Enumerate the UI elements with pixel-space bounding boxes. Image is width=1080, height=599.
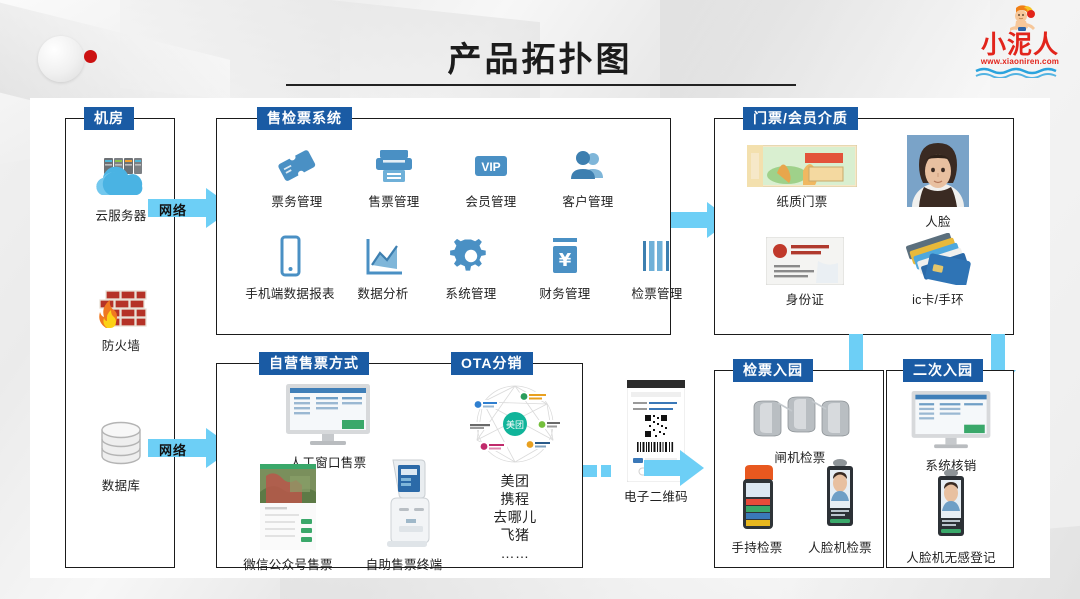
ota-brand-list: 美团 携程 去哪儿 飞猪 …… [455,472,575,562]
page-title: 产品拓扑图 [0,32,1080,81]
cell-label: 客户管理 [536,191,640,210]
cell-label: 会员管理 [439,191,543,210]
cell-label: 数据分析 [335,283,431,302]
cell-data-analysis: 数据分析 [335,233,431,302]
cell-customer-management: 客户管理 [536,145,640,210]
wechat-phone-image [260,464,316,550]
cell-finance-management: ¥ 财务管理 [515,233,615,302]
database-icon [90,419,152,471]
ticket-icon [274,145,320,187]
svg-text:美团: 美团 [506,419,524,431]
box-tag-ticket-media: 门票/会员介质 [743,107,858,130]
turnstile-image [740,389,860,443]
cell-face-noawareness: 人脸机无感登记 [887,467,1015,566]
cell-label: 电子二维码 [600,486,712,505]
cell-system-management: 系统管理 [421,233,521,302]
box-self-sales: 自营售票方式 OTA分销 人工窗口售票 [216,363,583,568]
desktop-monitor-image [906,389,996,451]
handheld-scanner-image [737,463,777,533]
ota-brand: …… [455,544,575,562]
network-label-2: 网络 [159,440,187,459]
barcode-icon [634,233,680,279]
cell-sales-management: 售票管理 [342,145,446,210]
finance-icon: ¥ [542,233,588,279]
vip-icon: VIP [468,145,514,187]
box-server-room: 机房 云服务 [65,118,175,568]
cell-handheld: 手持检票 [713,463,801,556]
title-underline [286,84,796,86]
cell-label: 检票管理 [607,283,707,302]
cell-kiosk: 自助售票终端 [345,456,463,573]
face-terminal-image [932,467,970,543]
ota-brand: 美团 [455,472,575,490]
cell-label: 售票管理 [342,191,446,210]
cell-member-management: VIP 会员管理 [439,145,543,210]
cell-id-card: 身份证 [745,237,865,308]
chart-icon [360,233,406,279]
cell-label: 手持检票 [713,537,801,556]
cell-label: 自助售票终端 [345,554,463,573]
cell-label: 人脸机检票 [795,537,885,556]
box-tag-server-room: 机房 [84,107,134,130]
cell-label: 财务管理 [515,283,615,302]
users-icon [565,145,611,187]
cell-system-verification: 系统核销 [887,389,1015,474]
svg-text:¥: ¥ [559,250,572,271]
face-photo-image [907,135,969,207]
box-tag-ticket-system: 售检票系统 [257,107,352,130]
cell-turnstile: 闸机检票 [723,389,877,466]
cloud-server-icon [90,155,152,201]
cell-label: 纸质门票 [737,191,867,210]
ota-brand: 去哪儿 [455,508,575,526]
cell-paper-ticket: 纸质门票 [737,145,867,210]
cell-label: 票务管理 [245,191,349,210]
cell-label: 微信公众号售票 [223,554,353,573]
cell-firewall: 防火墙 [66,285,176,354]
box-tag-ota: OTA分销 [451,352,533,375]
svg-text:VIP: VIP [481,160,500,174]
box-reentry: 二次入园 系统核销 [886,370,1014,568]
id-card-image [766,237,844,285]
network-label-1: 网络 [159,200,187,219]
box-ticket-system: 售检票系统 票务管理 [216,118,671,335]
face-terminal-image [821,457,859,533]
ota-brand: 飞猪 [455,526,575,544]
box-tag-reentry: 二次入园 [903,359,983,382]
cell-ota-network: 美团 [455,382,575,470]
ic-card-image [903,233,973,285]
box-tag-self-sales: 自营售票方式 [259,352,369,375]
mobile-icon [267,233,313,279]
cell-label: 防火墙 [66,335,176,354]
cell-wechat-sales: 微信公众号售票 [223,464,353,573]
diagram-panel: 机房 云服务 [30,98,1050,578]
cell-face: 人脸 [883,135,993,230]
cell-label: ic卡/手环 [883,289,993,308]
ota-brand: 携程 [455,490,575,508]
cell-ticket-management: 票务管理 [245,145,349,210]
cell-checkin-management: 检票管理 [607,233,707,302]
box-tag-check-in: 检票入园 [733,359,813,382]
cell-face-terminal: 人脸机检票 [795,457,885,556]
box-ticket-media: 门票/会员介质 纸质门票 [714,118,1014,335]
kiosk-image [373,456,435,550]
desktop-monitor-image [280,382,376,448]
gear-icon [448,233,494,279]
cell-label: 身份证 [745,289,865,308]
cell-ic-card: ic卡/手环 [883,233,993,308]
arrow-to-checkin [644,450,704,486]
box-check-in: 检票入园 闸机检票 [714,370,884,568]
printer-icon [371,145,417,187]
paper-ticket-image [747,145,857,187]
cell-label: 手机端数据报表 [231,283,349,302]
firewall-icon [90,285,152,331]
cell-label: 人脸机无感登记 [887,547,1015,566]
cell-mobile-report: 手机端数据报表 [231,233,349,302]
cell-label: 人脸 [883,211,993,230]
cell-label: 系统管理 [421,283,521,302]
cell-qrcode: 电子二维码 [600,380,712,505]
cell-label: 数据库 [66,475,176,494]
ota-network-image: 美团 [463,382,567,466]
